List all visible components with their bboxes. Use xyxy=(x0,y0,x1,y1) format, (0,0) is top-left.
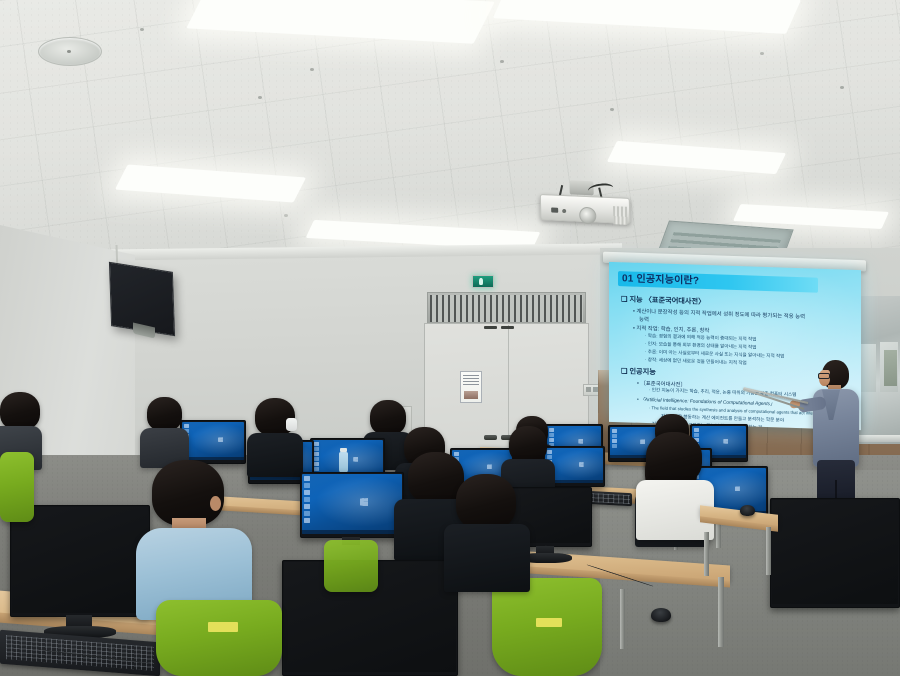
desk-leg xyxy=(704,532,709,576)
projector-lens xyxy=(579,207,596,225)
windows-logo-icon xyxy=(487,464,492,469)
chair-label xyxy=(208,622,238,632)
slide-heading-2: ❑ 인공지능 xyxy=(621,366,656,377)
windows-logo-icon xyxy=(640,439,645,444)
glasses-icon xyxy=(818,373,830,379)
ceiling-projector xyxy=(540,188,633,222)
bottle-cap xyxy=(340,448,347,452)
student-head xyxy=(0,392,40,430)
student-torso xyxy=(247,433,303,477)
chair-label xyxy=(536,618,562,627)
windows-logo-icon xyxy=(218,437,223,442)
monitor-screen xyxy=(302,474,402,534)
projector-panel xyxy=(551,207,558,212)
mouse-r2[interactable] xyxy=(651,608,671,622)
slide-bullet-1-6: · 창작: 세상에 없던 새로운 것을 만들어내는 지적 작업 xyxy=(645,357,747,366)
slide-bullet-1-1b: 능력 xyxy=(639,315,649,323)
mouse-right[interactable] xyxy=(740,505,755,516)
ceiling-speaker xyxy=(38,37,102,66)
chair-mid[interactable] xyxy=(324,540,378,592)
slide-title: 01 인공지능이란? xyxy=(622,272,818,293)
emergency-exit-sign xyxy=(472,275,494,288)
student-head xyxy=(152,460,224,526)
monitor-screen xyxy=(772,500,898,604)
student-torso xyxy=(444,524,530,592)
student-head xyxy=(147,397,182,431)
transom-window xyxy=(427,292,586,325)
door-push-bar-right xyxy=(501,326,514,329)
student-head xyxy=(509,426,547,463)
windows-logo-icon xyxy=(578,439,583,444)
desktop-icons xyxy=(314,442,319,476)
taskbar[interactable] xyxy=(302,530,402,534)
projector-indicator xyxy=(562,209,566,213)
projector-body xyxy=(540,194,631,224)
windows-logo-icon xyxy=(735,486,740,491)
monitor-r3-2 xyxy=(180,420,246,464)
transom-louvers xyxy=(430,295,583,322)
chair-r2[interactable] xyxy=(492,578,602,676)
windows-logo-icon xyxy=(579,462,584,467)
desktop-icons xyxy=(612,429,617,448)
monitor-r1-3 xyxy=(770,498,900,608)
desk-leg xyxy=(620,589,625,649)
windows-logo-icon xyxy=(353,457,358,462)
keyboard-r4[interactable] xyxy=(586,491,632,506)
windows-logo-icon xyxy=(723,439,728,444)
face-mask xyxy=(286,418,297,431)
classroom-photo: 01 인공지능이란? ❑ 지능 〈표준국어대사전〉 • 계산이나 문장작성 등의… xyxy=(0,0,900,676)
student-ear xyxy=(210,496,221,511)
chair-left-far[interactable] xyxy=(0,452,34,522)
monitor-screen xyxy=(12,507,148,613)
door-push-bar-left xyxy=(484,326,497,329)
desktop-icons xyxy=(304,476,310,523)
desk-leg xyxy=(766,527,771,575)
window-foliage-reflection xyxy=(884,350,897,386)
slide-heading-1: ❑ 지능 〈표준국어대사전〉 xyxy=(621,294,705,307)
slide-bullet-1-1: • 계산이나 문장작성 등의 지적 작업에서 성취 정도에 따라 평가되는 적응… xyxy=(633,307,805,321)
monitor-screen xyxy=(182,422,244,460)
student-head xyxy=(370,400,406,435)
student-head xyxy=(456,474,516,530)
monitor-r2-2 xyxy=(300,472,404,538)
door-notice-poster xyxy=(460,371,482,403)
windows-logo-icon xyxy=(360,498,368,506)
water-bottle[interactable] xyxy=(339,452,348,473)
student-head xyxy=(646,432,702,484)
desk-leg xyxy=(718,577,724,647)
monitor-r1-1 xyxy=(10,505,150,617)
door-handle-left[interactable] xyxy=(484,435,497,440)
projector-vent xyxy=(613,206,627,225)
chair-r1[interactable] xyxy=(156,600,282,676)
